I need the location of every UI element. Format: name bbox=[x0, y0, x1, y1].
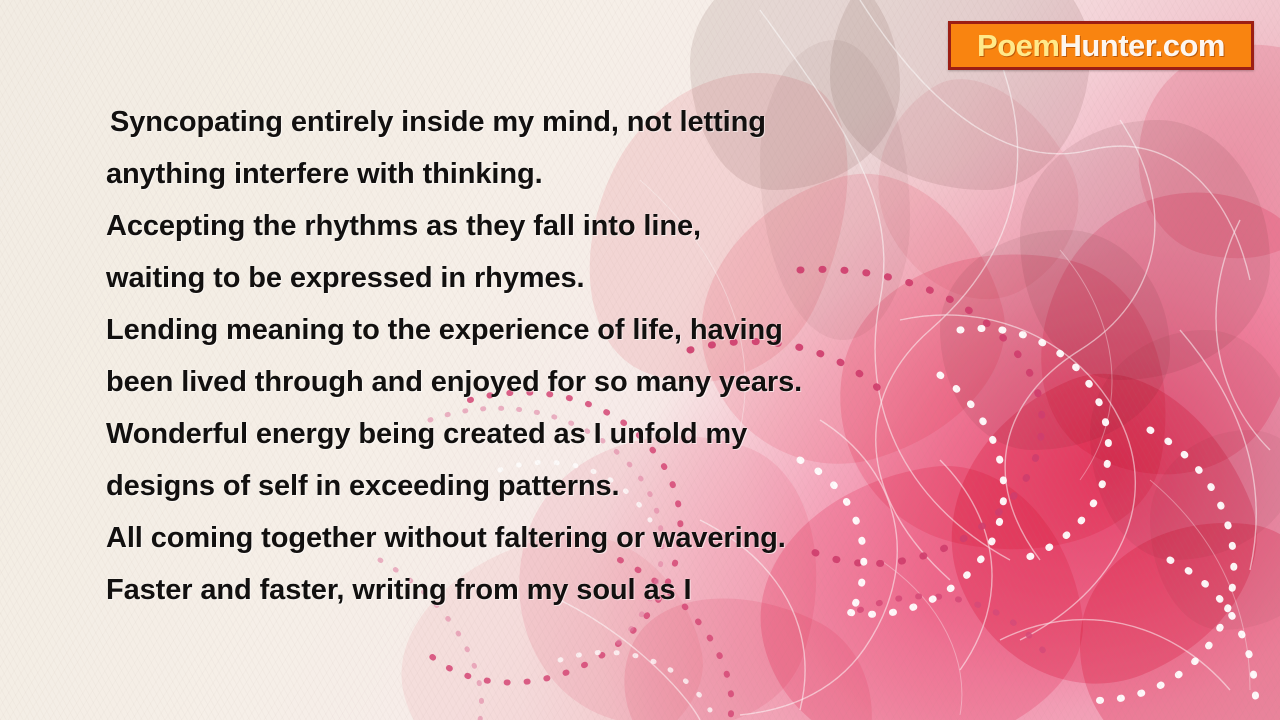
poem-image-canvas: Syncopating entirely inside my mind, not… bbox=[0, 0, 1280, 720]
logo-brand-primary: Poem bbox=[977, 28, 1059, 63]
poem-line: Syncopating entirely inside my mind, not… bbox=[106, 96, 926, 148]
poem-line: waiting to be expressed in rhymes. bbox=[106, 252, 926, 304]
logo-brand-secondary: Hunter.com bbox=[1059, 28, 1225, 63]
poem-text-block: Syncopating entirely inside my mind, not… bbox=[106, 96, 926, 616]
poem-line: been lived through and enjoyed for so ma… bbox=[106, 356, 926, 408]
poem-line: Accepting the rhythms as they fall into … bbox=[106, 200, 926, 252]
poem-line: All coming together without faltering or… bbox=[106, 512, 926, 564]
poemhunter-logo-text: PoemHunter.com bbox=[977, 30, 1225, 61]
poem-line: anything interfere with thinking. bbox=[106, 148, 926, 200]
poem-line: designs of self in exceeding patterns. bbox=[106, 460, 926, 512]
poem-line: Faster and faster, writing from my soul … bbox=[106, 564, 926, 616]
poem-line: Lending meaning to the experience of lif… bbox=[106, 304, 926, 356]
poem-line: Wonderful energy being created as I unfo… bbox=[106, 408, 926, 460]
poemhunter-logo[interactable]: PoemHunter.com bbox=[948, 21, 1254, 70]
